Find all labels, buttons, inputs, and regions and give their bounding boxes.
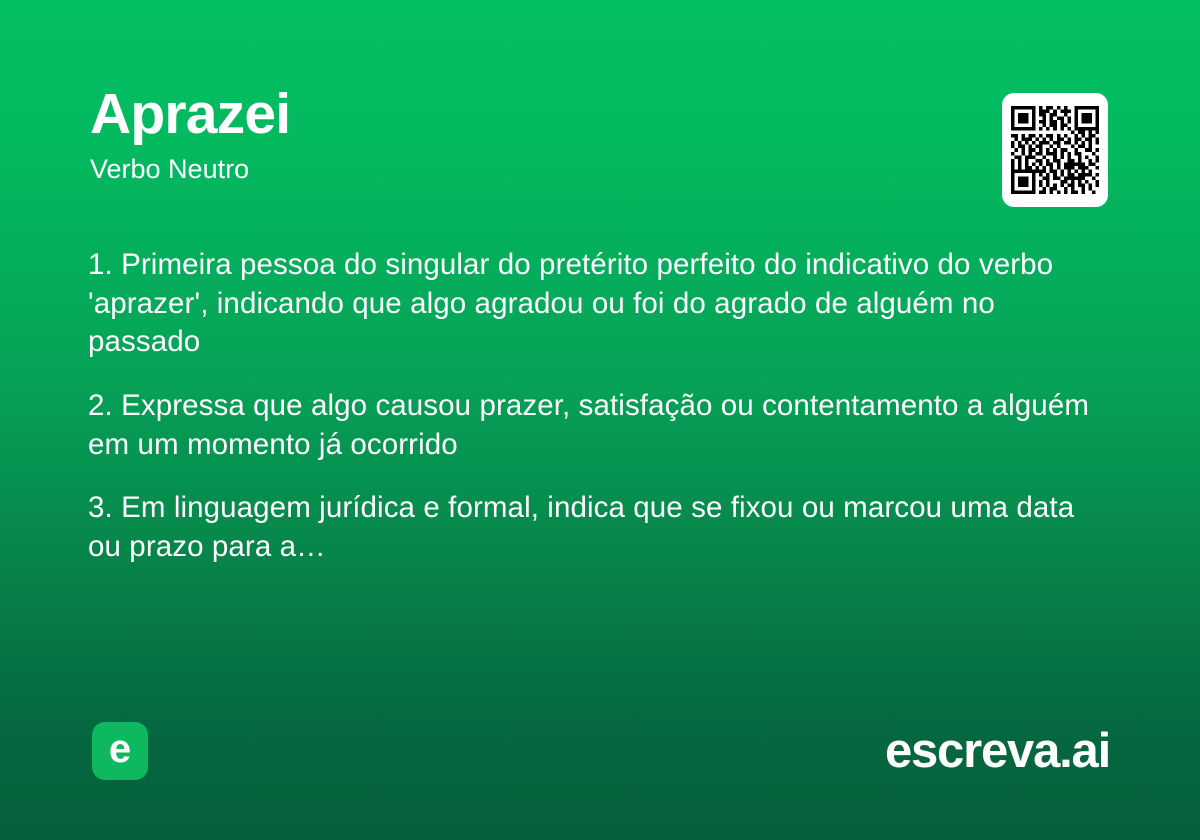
definition-item: 2. Expressa que algo causou prazer, sati… (88, 387, 1108, 464)
qr-code-card[interactable] (1002, 93, 1108, 207)
definition-item: 1. Primeira pessoa do singular do pretér… (88, 246, 1108, 362)
card-header: Aprazei Verbo Neutro (90, 86, 1110, 185)
brand-name: escreva.ai (885, 727, 1110, 776)
word-class-label: Verbo Neutro (90, 155, 1110, 185)
definitions-list: 1. Primeira pessoa do singular do pretér… (88, 246, 1108, 566)
qr-code-icon (1011, 106, 1099, 194)
definition-item: 3. Em linguagem jurídica e formal, indic… (88, 489, 1108, 566)
dictionary-card: Aprazei Verbo Neutro (0, 0, 1200, 840)
page-title: Aprazei (90, 86, 1110, 143)
card-footer: e escreva.ai (92, 722, 1110, 780)
brand-logo-icon: e (92, 722, 148, 780)
